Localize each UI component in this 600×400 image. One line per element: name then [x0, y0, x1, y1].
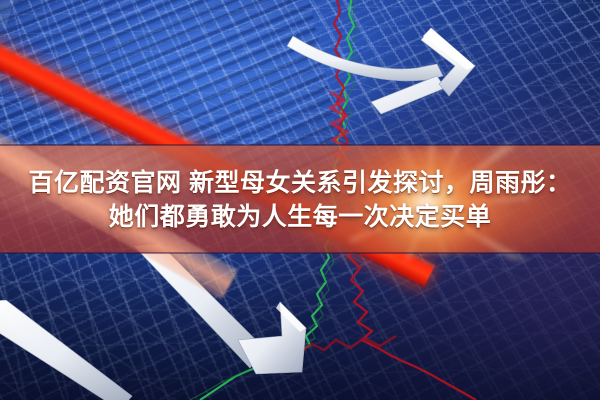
caption-band-bottom-edge: [0, 252, 600, 254]
caption-band-top-edge: [0, 144, 600, 146]
light-burst: [355, 150, 525, 255]
thumbnail-image: 百亿配资官网 新型母女关系引发探讨，周雨彤： 她们都勇敢为人生每一次决定买单: [0, 0, 600, 400]
